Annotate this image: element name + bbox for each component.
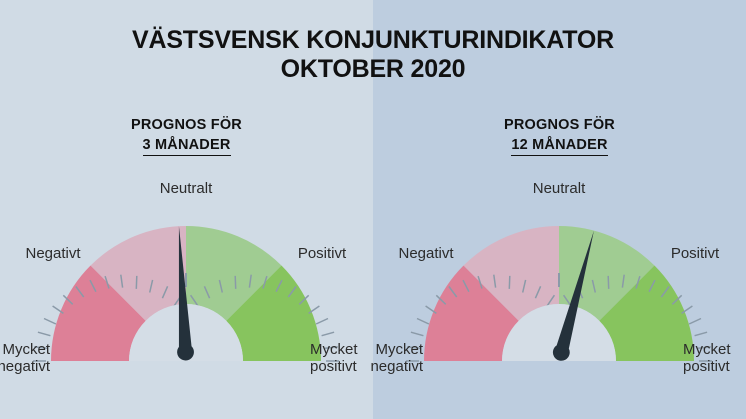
gauge-label-positivt: Positivt bbox=[262, 245, 382, 262]
panel-subtitle: PROGNOS FÖR 12 MÅNADER bbox=[373, 115, 746, 156]
panel-prognos-12-manader: PROGNOS FÖR 12 MÅNADER bbox=[373, 0, 746, 419]
gauge-label-positivt: Positivt bbox=[635, 245, 746, 262]
panel-subtitle: PROGNOS FÖR 3 MÅNADER bbox=[0, 115, 373, 156]
subtitle-line-1: PROGNOS FÖR bbox=[131, 117, 242, 133]
gauge-12-manader: Neutralt Negativt Positivt Mycket negati… bbox=[373, 196, 746, 396]
gauge-label-mycket-positivt: Mycket positivt bbox=[683, 341, 746, 375]
subtitle-line-2: 3 MÅNADER bbox=[143, 135, 231, 156]
subtitle-line-2: 12 MÅNADER bbox=[511, 135, 607, 156]
subtitle-line-1: PROGNOS FÖR bbox=[504, 117, 615, 133]
infographic-root: VÄSTSVENSK KONJUNKTURINDIKATOR OKTOBER 2… bbox=[0, 0, 746, 419]
gauge-label-neutralt: Neutralt bbox=[115, 180, 257, 197]
gauge-label-mycket-negativt: Mycket negativt bbox=[303, 341, 423, 375]
gauge-label-mycket-negativt: Mycket negativt bbox=[0, 341, 50, 375]
gauge-label-negativt: Negativt bbox=[0, 245, 113, 262]
gauge-label-negativt: Negativt bbox=[366, 245, 486, 262]
gauge-label-neutralt: Neutralt bbox=[488, 180, 630, 197]
